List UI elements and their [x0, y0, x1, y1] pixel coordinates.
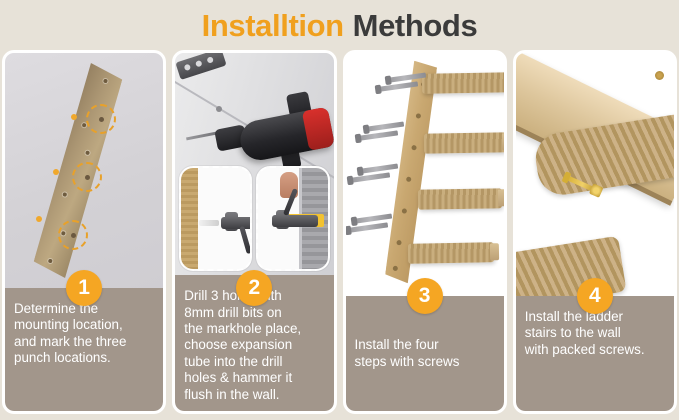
- step-badge-3: 3: [407, 278, 443, 314]
- step-caption-1: Determine the mounting location, and mar…: [5, 288, 163, 411]
- title-main-word: Methods: [353, 8, 478, 44]
- ladder-step-icon-4: [407, 242, 493, 263]
- step-caption-1-text: Determine the mounting location, and mar…: [14, 301, 155, 367]
- plank-screw-hole-icon: [655, 71, 664, 80]
- mark-dot-icon-2: [53, 169, 59, 175]
- step-badge-2: 2: [236, 270, 272, 306]
- hammer-icon-left: [221, 217, 252, 229]
- punch-mark-icon-2: [72, 162, 102, 192]
- step-caption-3-text: Install the four steps with screws: [355, 337, 496, 370]
- screw-icon-5: [361, 164, 397, 174]
- step-caption-4-text: Install the ladder stairs to the wall wi…: [525, 309, 666, 358]
- inset-hammer-flush: [256, 166, 329, 271]
- step-panel-2: 2 Drill 3 holes with 8mm drill bits on t…: [172, 50, 336, 414]
- punch-mark-icon-3: [58, 220, 88, 250]
- installation-steps-grid: 1 Determine the mounting location, and m…: [0, 50, 679, 420]
- ladder-step-icon-1: [421, 72, 503, 93]
- ladder-step-icon-3: [417, 188, 501, 209]
- step-4-illustration: [516, 53, 674, 296]
- step-badge-4: 4: [577, 278, 613, 314]
- inset-expansion-tube: [179, 166, 252, 271]
- step-panel-4: 4 Install the ladder stairs to the wall …: [513, 50, 677, 414]
- hammer-icon-right: [272, 215, 318, 227]
- step-3-illustration: [346, 53, 504, 296]
- step-panel-3: 3 Install the four steps with screws: [343, 50, 507, 414]
- step-2-illustration: [175, 53, 333, 275]
- punch-mark-icon-1: [86, 104, 116, 134]
- page-title: Installtion Methods: [0, 0, 679, 50]
- step-2-inset-row: [179, 166, 329, 271]
- step-panel-1: 1 Determine the mounting location, and m…: [2, 50, 166, 414]
- ladder-step-icon-2: [423, 132, 503, 153]
- mark-dot-icon-3: [36, 216, 42, 222]
- screw-icon-3: [367, 122, 403, 132]
- step-badge-1: 1: [66, 270, 102, 306]
- title-accent-word: Installtion: [202, 8, 344, 44]
- mark-dot-icon-1: [71, 114, 77, 120]
- step-1-illustration: [5, 53, 163, 288]
